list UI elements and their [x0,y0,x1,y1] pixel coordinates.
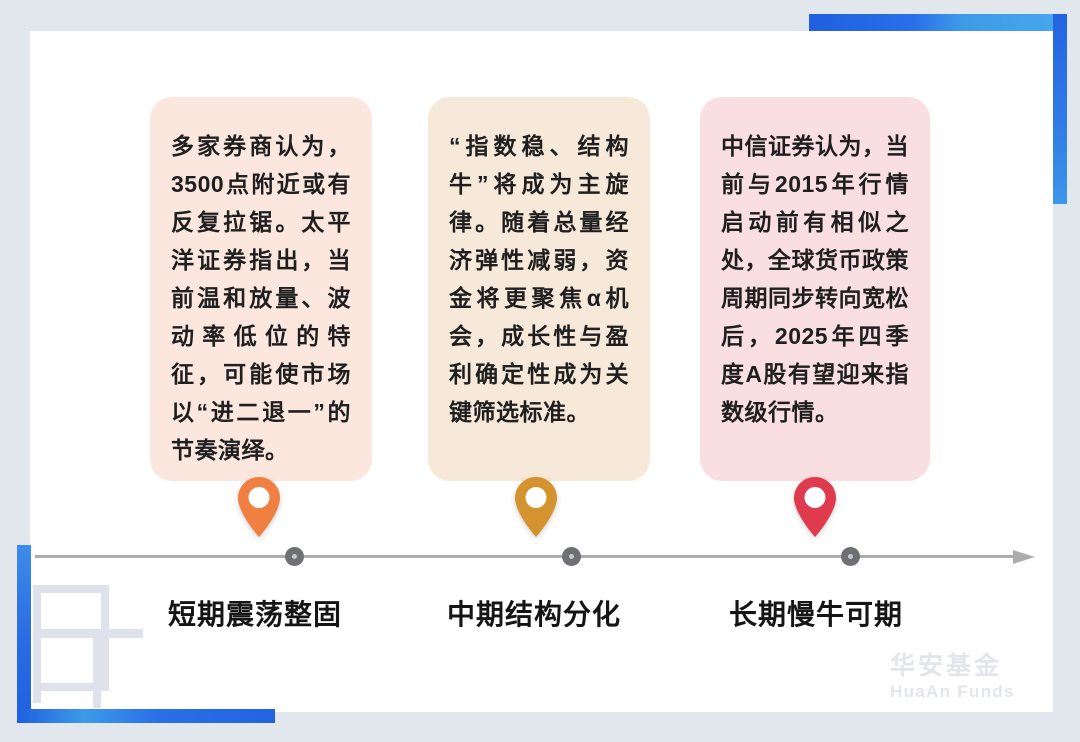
card-short-term: 多家券商认为，3500点附近或有反复拉锯。太平洋证券指出，当前温和放量、波动率低… [150,97,372,481]
card-long-term-text: 中信证券认为，当前与2015年行情启动前有相似之处，全球货币政策周期同步转向宽松… [721,127,909,431]
timeline-node-icon-short-term [285,547,304,566]
decor-bar-right-vertical [1053,14,1067,204]
watermark: 华安基金 HuaAn Funds [890,651,1015,703]
watermark-chinese: 华安基金 [890,651,1015,681]
map-pin-icon-long-term [792,476,838,538]
watermark-english: HuaAn Funds [890,681,1015,703]
phase-label-mid-term: 中期结构分化 [447,593,621,633]
phase-label-short-term: 短期震荡整固 [168,593,342,633]
decor-bar-top-right [809,14,1053,31]
decor-bar-left-vertical [17,545,31,723]
infographic-canvas: 多家券商认为，3500点附近或有反复拉锯。太平洋证券指出，当前温和放量、波动率低… [0,0,1080,742]
phase-label-long-term: 长期慢牛可期 [729,593,903,633]
card-long-term: 中信证券认为，当前与2015年行情启动前有相似之处，全球货币政策周期同步转向宽松… [700,97,930,481]
timeline-node-icon-long-term [841,547,860,566]
decor-bar-bottom-left [17,709,275,723]
huaan-logo-mark [33,583,145,708]
map-pin-icon-mid-term [513,476,559,538]
timeline-node-icon-mid-term [562,547,581,566]
map-pin-icon-short-term [236,476,282,538]
card-short-term-text: 多家券商认为，3500点附近或有反复拉锯。太平洋证券指出，当前温和放量、波动率低… [171,127,351,469]
timeline-arrow-icon [1013,550,1035,564]
timeline-line [35,555,1020,558]
card-mid-term-text: “指数稳、结构牛”将成为主旋律。随着总量经济弹性减弱，资金将更聚焦α机会，成长性… [449,127,629,431]
card-mid-term: “指数稳、结构牛”将成为主旋律。随着总量经济弹性减弱，资金将更聚焦α机会，成长性… [428,97,650,481]
timeline-axis [35,550,1038,564]
